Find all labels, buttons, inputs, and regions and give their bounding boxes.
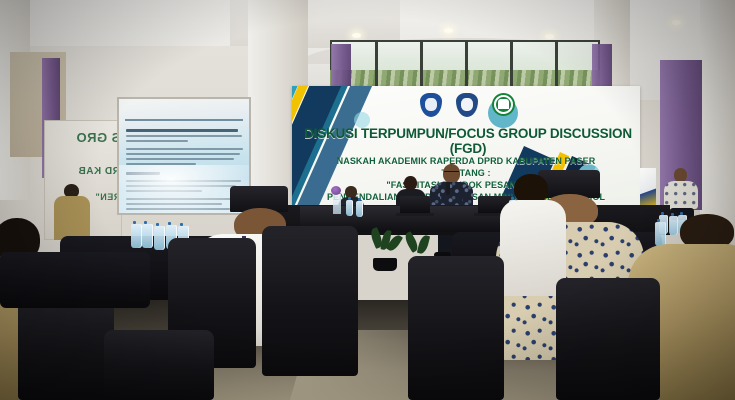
water-bottle <box>346 200 353 216</box>
microphone-icon <box>446 182 450 195</box>
water-bottle <box>131 224 142 248</box>
speaker-glasses-icon <box>444 171 459 175</box>
chair <box>262 226 358 376</box>
flower <box>331 186 341 195</box>
chair <box>408 256 504 400</box>
slide-text-line <box>126 158 234 160</box>
slide-text-line <box>126 135 242 137</box>
slide-text-line <box>126 140 188 142</box>
flower-vase <box>333 194 341 214</box>
mirror-text-fragment-1: S GRO <box>76 130 120 145</box>
plant-pot <box>373 258 397 271</box>
slide-text-line <box>126 129 238 132</box>
slide-text-line <box>126 153 240 155</box>
mirror-text-fragment-2: RD KAB <box>78 166 120 177</box>
attendee-midground-dark <box>500 174 570 294</box>
chair <box>18 300 114 400</box>
event-photo: S GRO RD KAB REN" <box>0 0 735 400</box>
downlight-icon <box>545 34 554 39</box>
column-far-right <box>700 0 735 230</box>
foreground-table <box>0 252 150 308</box>
water-bottle <box>154 226 165 250</box>
slide-text-line <box>126 148 243 150</box>
logo-kabupaten-paser-icon <box>420 93 442 117</box>
water-bottle <box>356 201 363 217</box>
logo-dprd-icon <box>456 93 478 117</box>
laptop <box>400 196 430 213</box>
chair <box>104 330 214 400</box>
banner-logo-row <box>420 93 515 117</box>
banner-title-line-2: (FGD) <box>298 141 638 156</box>
banner-title-line-1: DISKUSI TERPUMPUN/FOCUS GROUP DISCUSSION <box>304 126 632 141</box>
downlight-icon <box>352 33 361 38</box>
banner-title: DISKUSI TERPUMPUN/FOCUS GROUP DISCUSSION… <box>298 126 638 156</box>
leaf <box>417 234 430 255</box>
chair <box>556 278 660 400</box>
head <box>404 176 417 190</box>
torso <box>500 200 566 296</box>
downlight-icon <box>672 20 681 25</box>
logo-institusi-hijau-icon <box>492 93 515 116</box>
potted-plant <box>368 228 402 274</box>
water-bottle <box>142 224 153 248</box>
head <box>674 168 687 182</box>
slide-rule <box>125 119 243 121</box>
downlight-icon <box>444 28 453 33</box>
